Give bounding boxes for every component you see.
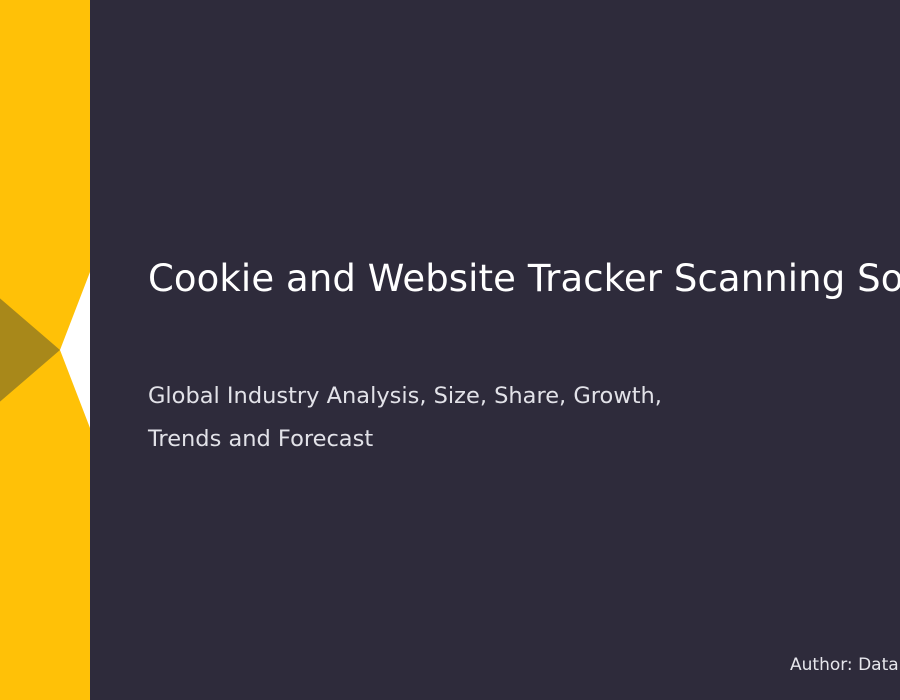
subtitle-line-1: Global Industry Analysis, Size, Share, G… (148, 375, 788, 418)
olive-overlay-triangle (0, 40, 60, 660)
text-content-area: Cookie and Website Tracker Scanning Soft… (148, 0, 900, 700)
title-slide: Cookie and Website Tracker Scanning Soft… (0, 0, 900, 700)
page-title: Cookie and Website Tracker Scanning Soft… (148, 256, 900, 302)
white-wedge (60, 272, 90, 428)
author-label: Author: DataIntelo (790, 653, 900, 677)
slide-subtitle: Global Industry Analysis, Size, Share, G… (148, 375, 788, 461)
subtitle-line-2: Trends and Forecast (148, 418, 788, 461)
